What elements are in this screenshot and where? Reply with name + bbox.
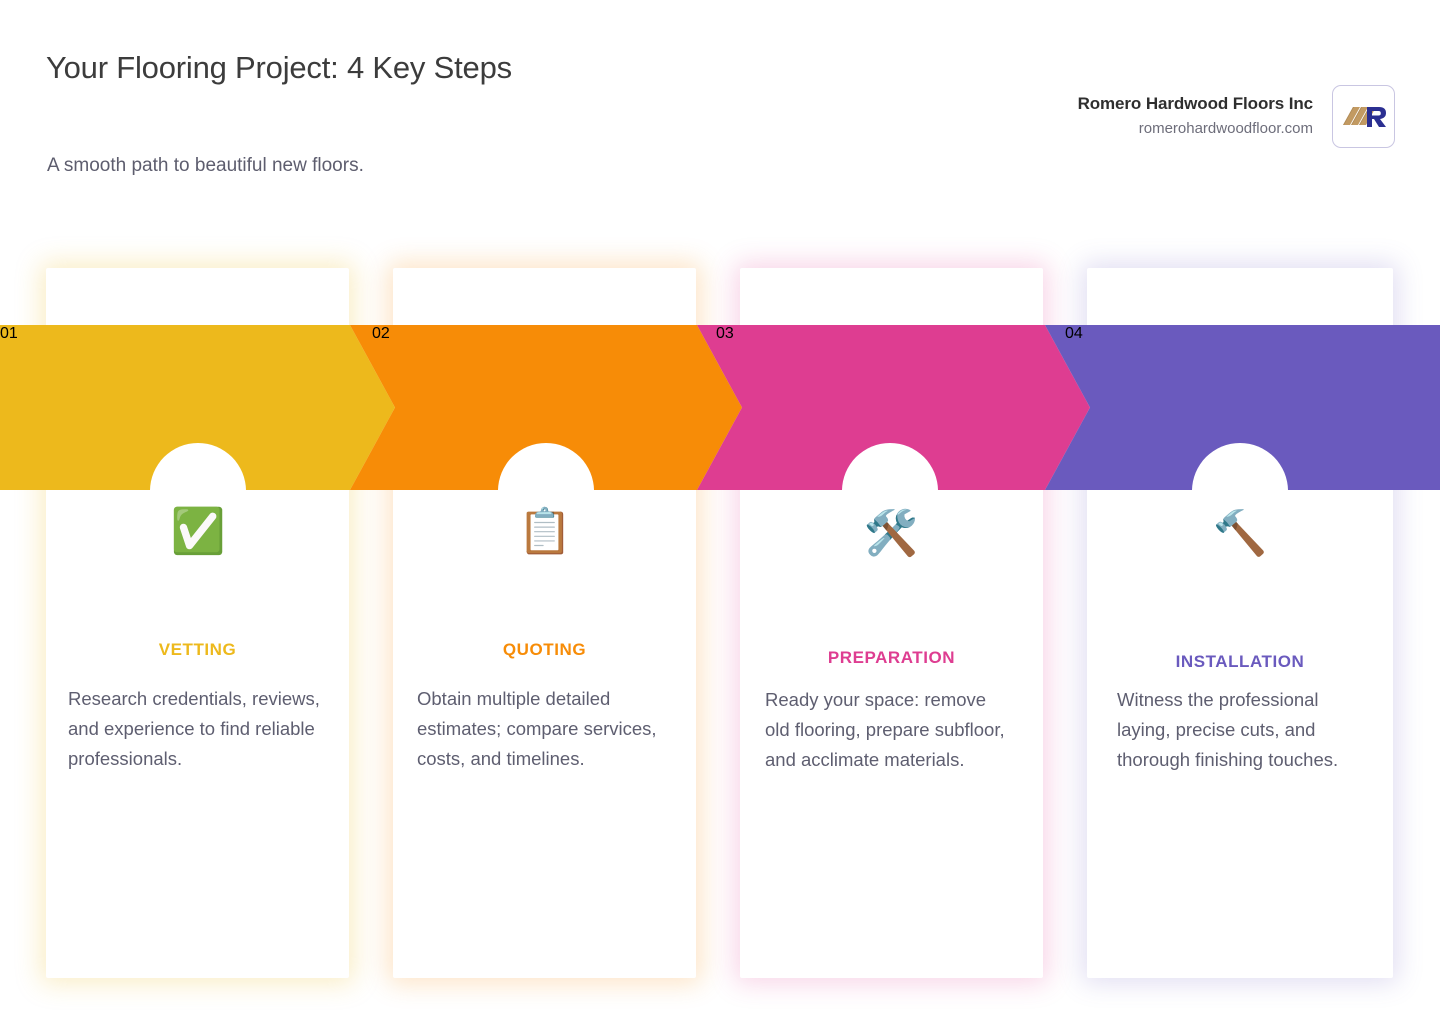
step-label-01: VETTING bbox=[46, 640, 349, 660]
step-description-01: Research credentials, reviews, and exper… bbox=[68, 684, 326, 774]
chevron-band-02 bbox=[350, 325, 742, 490]
chevron-band-01 bbox=[0, 325, 395, 490]
step-label-04: INSTALLATION bbox=[1087, 652, 1393, 672]
step-description-02: Obtain multiple detailed estimates; comp… bbox=[417, 684, 675, 774]
step-label-02: QUOTING bbox=[393, 640, 696, 660]
step-number-02: 02 bbox=[372, 325, 722, 343]
step-label-03: PREPARATION bbox=[740, 648, 1043, 668]
flooring-steps-infographic: Your Flooring Project: 4 Key Steps A smo… bbox=[0, 0, 1440, 1024]
step-number-03: 03 bbox=[716, 325, 1066, 343]
step-description-04: Witness the professional laying, precise… bbox=[1117, 685, 1373, 775]
step-number-01: 01 bbox=[0, 325, 350, 343]
icon-notch-02 bbox=[498, 443, 594, 491]
step-icon-02: 📋 bbox=[510, 510, 580, 554]
step-description-03: Ready your space: remove old flooring, p… bbox=[765, 685, 1013, 775]
icon-notch-01 bbox=[150, 443, 246, 491]
step-icon-04: 🔨 bbox=[1205, 512, 1275, 556]
chevron-step-banner: 01 02 03 04 bbox=[0, 325, 1440, 490]
step-icon-03: 🛠️ bbox=[856, 512, 926, 556]
icon-notch-03 bbox=[842, 443, 938, 491]
chevron-band-04 bbox=[1045, 325, 1440, 490]
icon-notch-04 bbox=[1192, 443, 1288, 491]
chevron-band-03 bbox=[697, 325, 1090, 490]
step-icon-01: ✅ bbox=[163, 510, 233, 554]
step-number-04: 04 bbox=[1065, 325, 1415, 343]
